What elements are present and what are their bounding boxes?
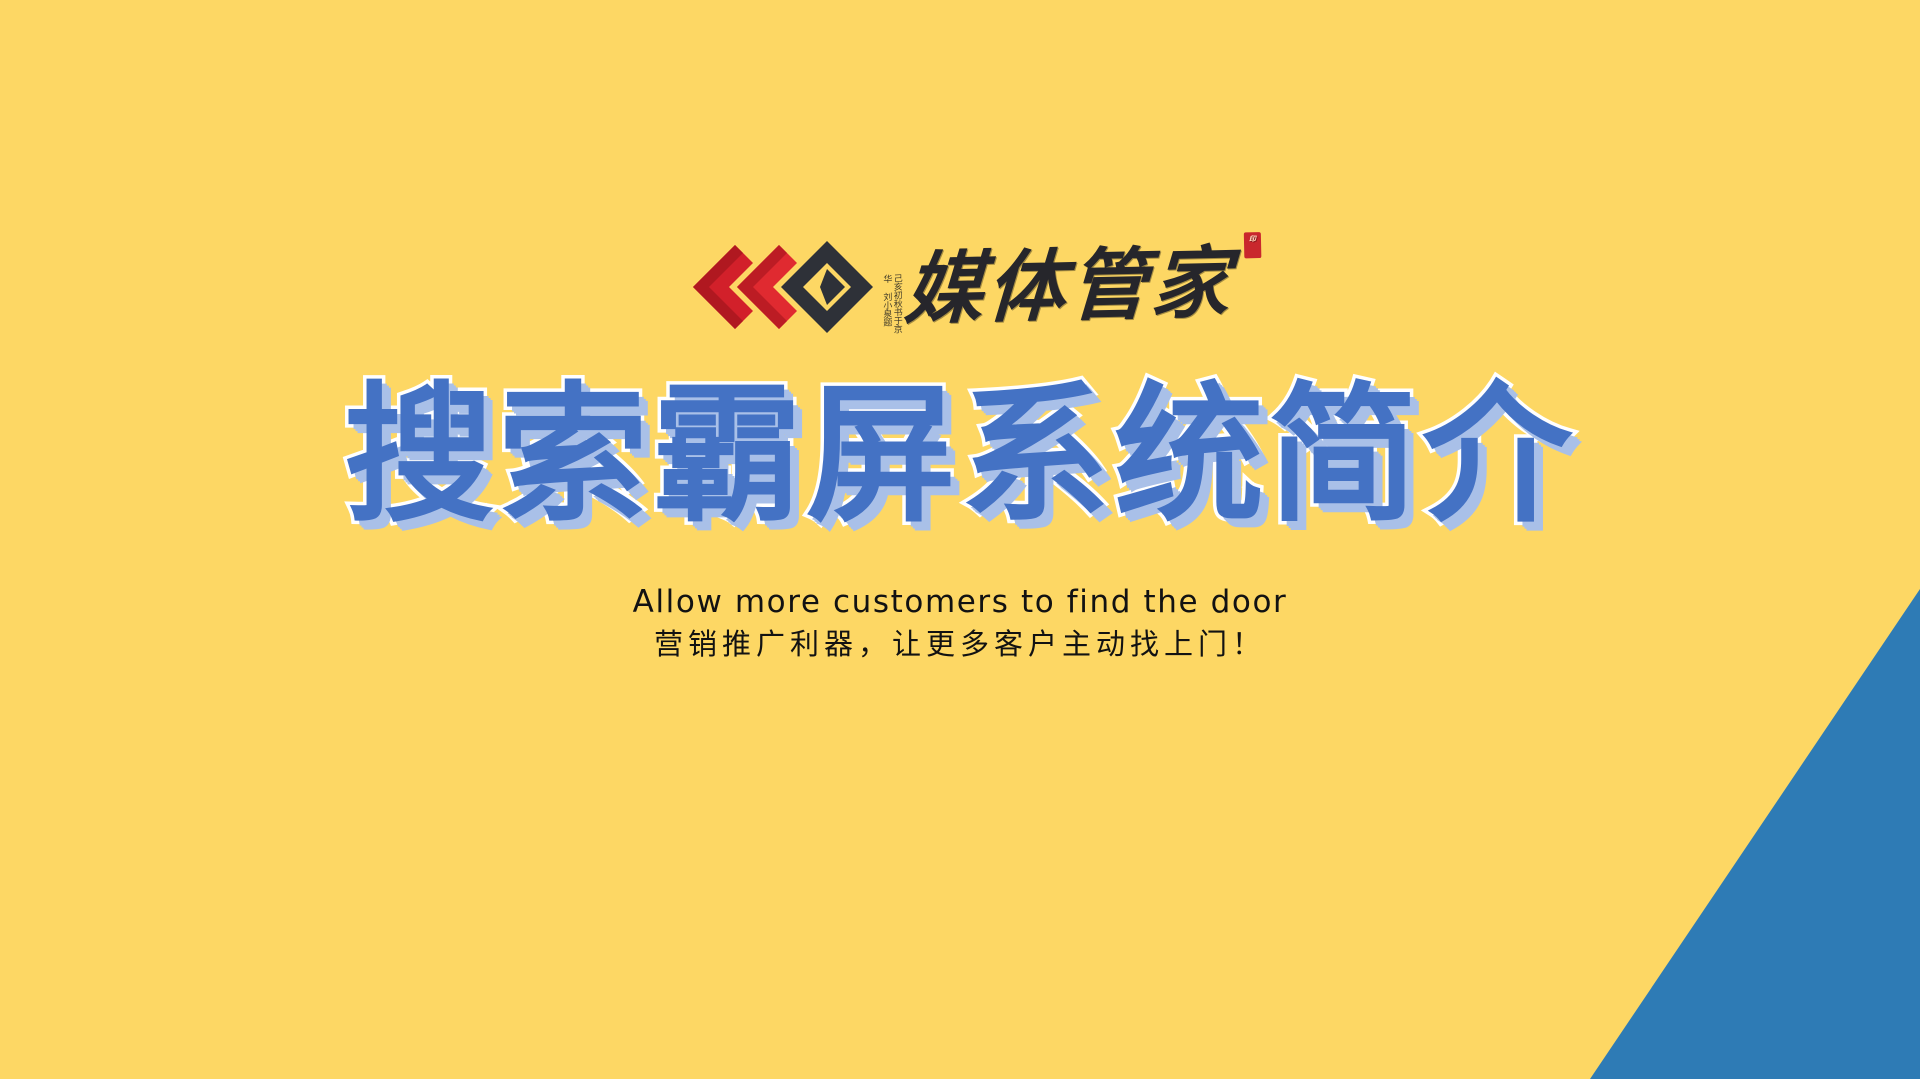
brand-logo: 己亥初秋书于京华 刘小泉题 媒体管家 印 bbox=[0, 232, 1920, 342]
subtitle-block: Allow more customers to find the door 营销… bbox=[0, 582, 1920, 664]
subtitle-chinese: 营销推广利器，让更多客户主动找上门！ bbox=[0, 624, 1920, 664]
chevron-diamond-logo-icon bbox=[687, 235, 877, 339]
slide-canvas: 己亥初秋书于京华 刘小泉题 媒体管家 印 搜索霸屏系统简介 Allow more… bbox=[0, 0, 1920, 1079]
page-title: 搜索霸屏系统简介 bbox=[0, 372, 1920, 540]
logo-wordmark-text: 媒体管家 bbox=[903, 238, 1236, 336]
logo-seal-icon: 印 bbox=[1244, 232, 1262, 258]
logo-side-inscription: 己亥初秋书于京华 刘小泉题 bbox=[881, 273, 902, 336]
subtitle-english: Allow more customers to find the door bbox=[0, 582, 1920, 622]
logo-wordmark: 媒体管家 印 bbox=[903, 245, 1235, 330]
logo-inscription-block: 己亥初秋书于京华 刘小泉题 bbox=[881, 232, 902, 342]
